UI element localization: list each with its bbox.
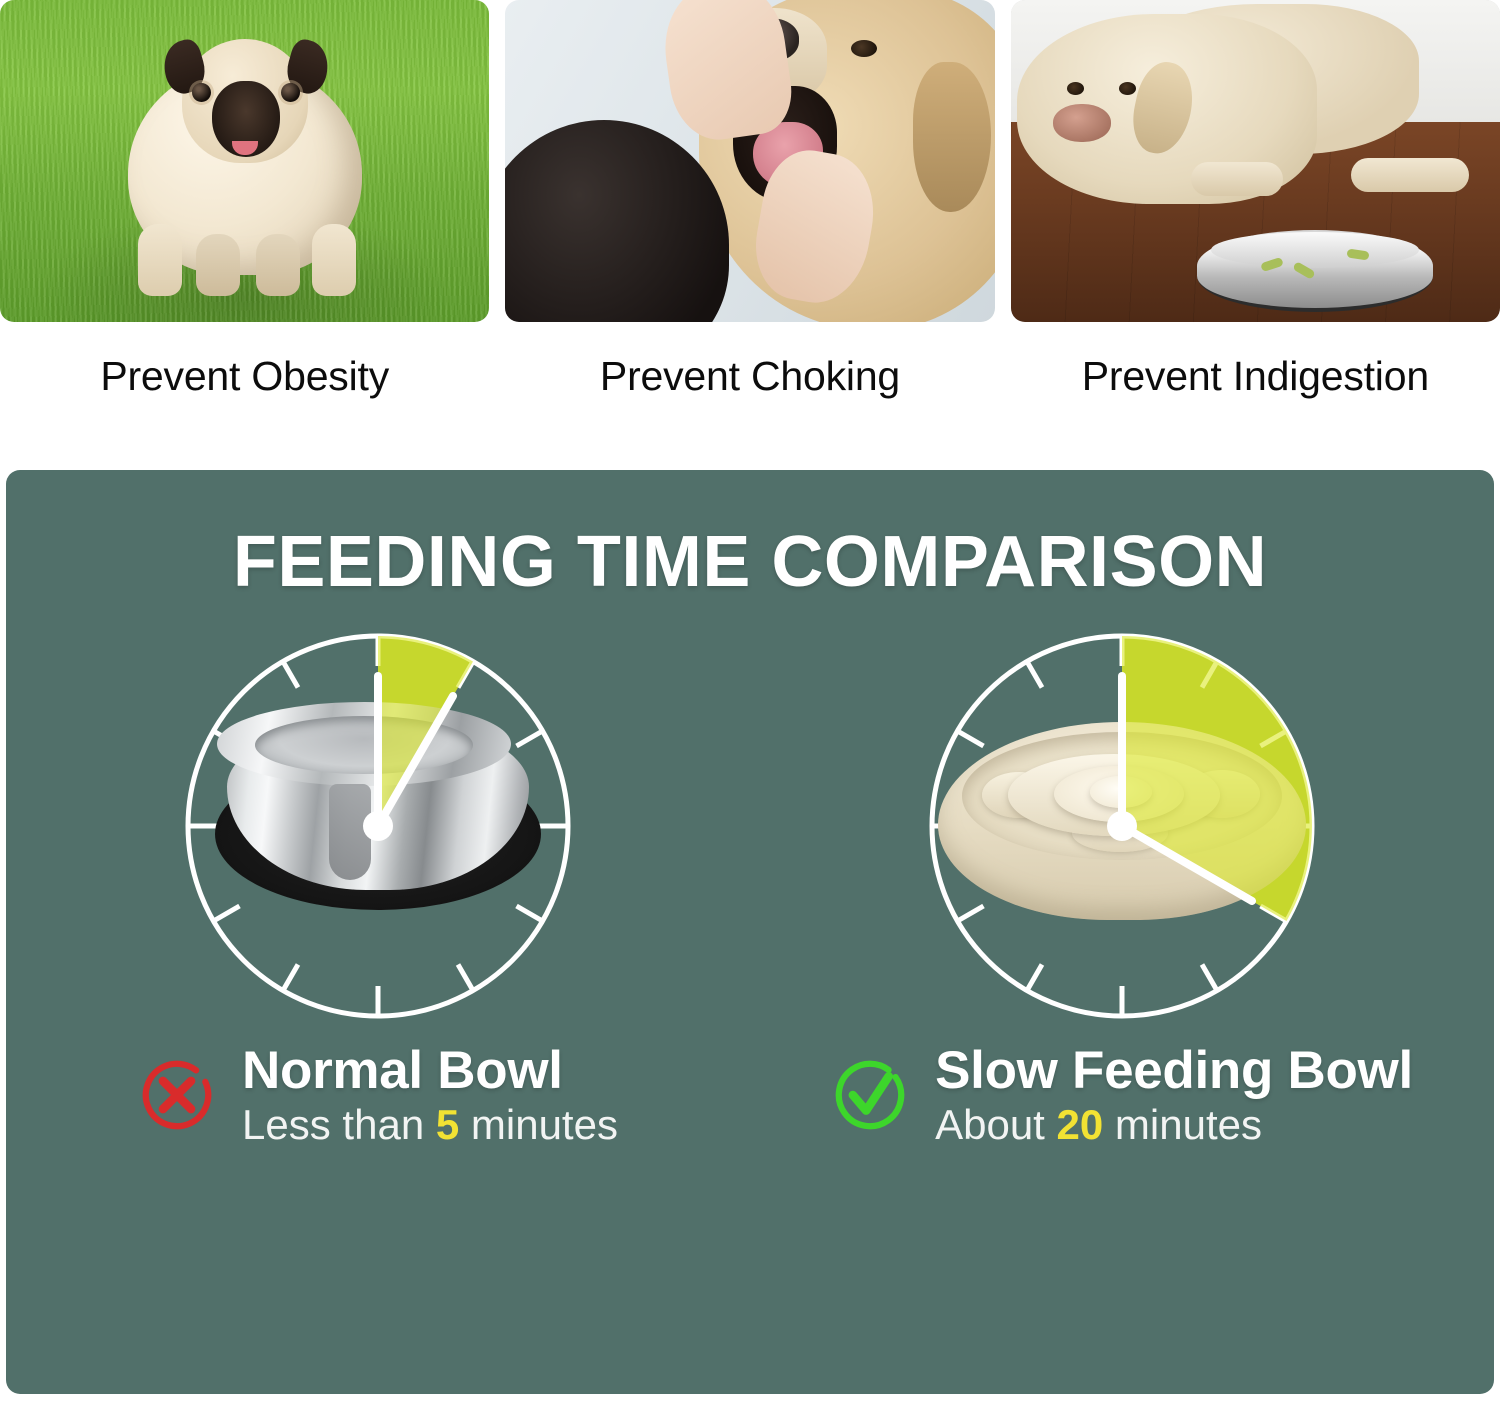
gauge-svg-slow: [912, 608, 1332, 1028]
benefit-card-indigestion: Prevent Indigestion: [1011, 0, 1500, 440]
comparison-column-normal-bowl: Normal Bowl Less than 5 minutes: [6, 608, 750, 1148]
product-infographic: Prevent Obesity Prevent Choking: [0, 0, 1500, 1405]
label-sub-slow-bowl: About 20 minutes: [935, 1101, 1413, 1148]
benefit-caption-obesity: Prevent Obesity: [0, 356, 489, 397]
gauge-normal-bowl: [168, 608, 588, 1028]
dial-comparison-row: Normal Bowl Less than 5 minutes: [6, 608, 1494, 1148]
label-title-slow-bowl: Slow Feeding Bowl: [935, 1042, 1413, 1099]
sub-prefix-normal: Less than: [242, 1101, 436, 1148]
comparison-column-slow-bowl: Slow Feeding Bowl About 20 minutes: [750, 608, 1494, 1148]
photo-overweight-pug: [0, 0, 489, 322]
label-slow-feeding-bowl: Slow Feeding Bowl About 20 minutes: [831, 1042, 1413, 1148]
sub-suffix-normal: minutes: [459, 1101, 618, 1148]
benefit-caption-choking: Prevent Choking: [505, 356, 994, 397]
label-title-normal-bowl: Normal Bowl: [242, 1042, 618, 1099]
feeding-time-comparison-panel: FEEDING TIME COMPARISON: [6, 470, 1494, 1394]
gauge-wedge-20min: [1122, 636, 1312, 921]
label-sub-normal-bowl: Less than 5 minutes: [242, 1101, 618, 1148]
panel-title: FEEDING TIME COMPARISON: [6, 470, 1494, 598]
photo-labrador-beside-bowl: [1011, 0, 1500, 322]
red-cross-mark-icon: [138, 1056, 216, 1134]
sub-prefix-slow: About: [935, 1101, 1056, 1148]
sub-suffix-slow: minutes: [1103, 1101, 1262, 1148]
benefit-card-obesity: Prevent Obesity: [0, 0, 489, 440]
gauge-svg-normal: [168, 608, 588, 1028]
sub-value-slow: 20: [1057, 1101, 1104, 1148]
photo-checking-dog-mouth: [505, 0, 994, 322]
benefit-caption-indigestion: Prevent Indigestion: [1011, 356, 1500, 397]
gauge-slow-feeding-bowl: [912, 608, 1332, 1028]
gauge-wedge-5min: [378, 636, 473, 826]
benefits-strip: Prevent Obesity Prevent Choking: [0, 0, 1500, 440]
green-check-mark-icon: [831, 1056, 909, 1134]
sub-value-normal: 5: [436, 1101, 459, 1148]
pug-illustration: [120, 35, 370, 290]
label-normal-bowl: Normal Bowl Less than 5 minutes: [138, 1042, 618, 1148]
benefit-card-choking: Prevent Choking: [505, 0, 994, 440]
